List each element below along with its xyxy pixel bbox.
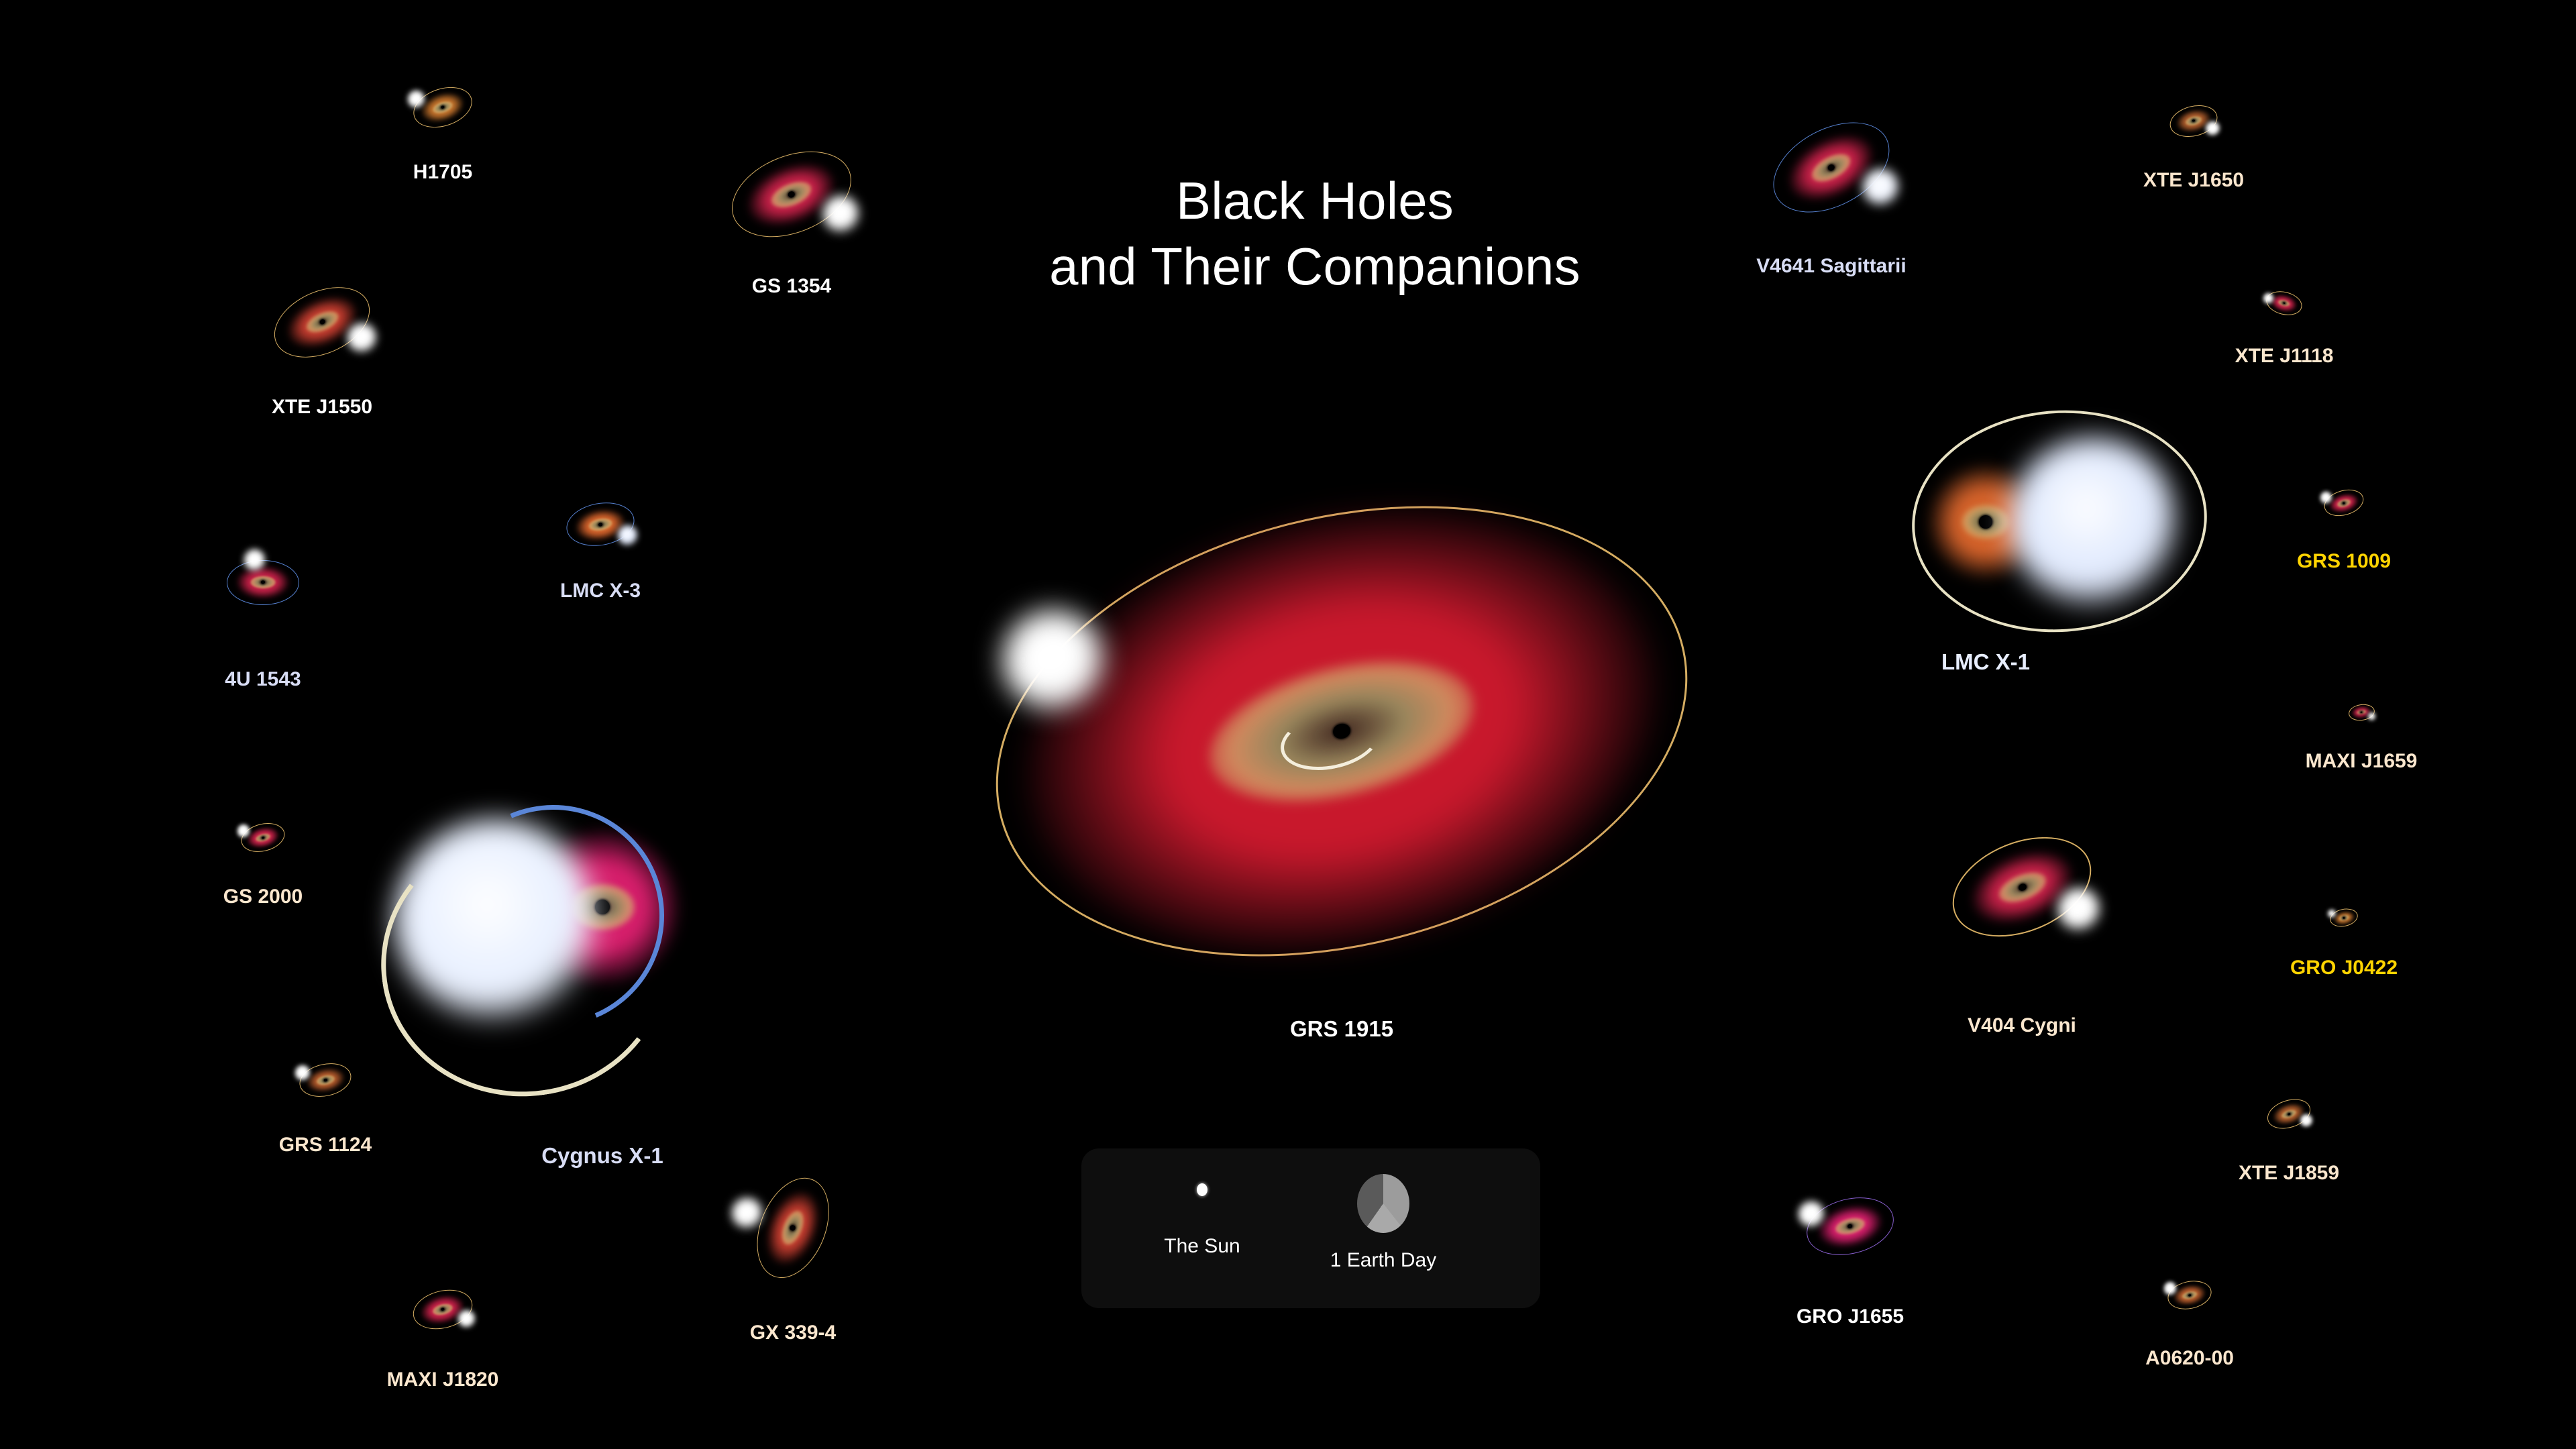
companion-star — [732, 1198, 762, 1229]
star-glow — [347, 323, 376, 353]
system-label: LMC X-3 — [413, 580, 788, 602]
system-label: XTE J1550 — [134, 396, 510, 419]
system-label: H1705 — [255, 161, 631, 184]
system-label: V4641 Sagittarii — [1644, 255, 2019, 278]
star-glow — [408, 91, 425, 108]
black-hole-shadow — [2188, 1293, 2191, 1296]
star-glow — [2058, 888, 2100, 930]
companion-star — [2058, 888, 2100, 930]
legend-item-one-earth-day: 1 Earth Day — [1303, 1174, 1464, 1272]
black-hole-shadow — [598, 523, 603, 527]
system-label: GRS 1124 — [138, 1134, 513, 1157]
star-glow — [1799, 1201, 1824, 1228]
page-title: Black Holes and Their Companions — [1033, 168, 1597, 300]
star-glow — [823, 196, 859, 232]
legend-panel: The Sun 1 Earth Day — [1081, 1148, 1540, 1308]
star-glow — [2320, 492, 2332, 504]
accretion-disk — [237, 566, 290, 598]
system-label: XTE J1118 — [2096, 345, 2472, 368]
companion-star — [823, 196, 859, 232]
star-glow — [2300, 1114, 2313, 1127]
system-label: GRS 1009 — [2156, 550, 2532, 573]
clock-pie-icon — [1357, 1174, 1409, 1233]
legend-item-the-sun: The Sun — [1122, 1183, 1283, 1258]
system-label: LMC X-1 — [1798, 649, 2173, 675]
system-label: GS 1354 — [604, 275, 979, 298]
legend-label-the-sun: The Sun — [1122, 1235, 1283, 1258]
companion-star — [2206, 121, 2220, 136]
star-glow — [2164, 1282, 2177, 1295]
companion-star — [408, 91, 425, 108]
system-label: GRO J1655 — [1662, 1305, 2038, 1328]
star-glow — [2263, 293, 2274, 304]
star-glow — [458, 1310, 476, 1328]
companion-star — [1863, 169, 1898, 205]
star-glow — [2328, 910, 2336, 918]
system-label: 4U 1543 — [75, 668, 451, 691]
star-glow — [237, 824, 250, 837]
black-hole-shadow — [2343, 916, 2345, 918]
sun-dot-icon — [1197, 1183, 1207, 1196]
star-glow — [1863, 169, 1898, 205]
system-label: XTE J1859 — [2101, 1162, 2477, 1185]
star-glow — [732, 1198, 762, 1229]
companion-star — [2320, 492, 2332, 504]
system-label: GRS 1915 — [1154, 1016, 1529, 1042]
companion-star — [2328, 910, 2336, 918]
companion-star — [237, 824, 250, 837]
star-glow — [1003, 610, 1104, 711]
star-glow — [2368, 712, 2375, 720]
system-label: V404 Cygni — [1834, 1014, 2210, 1037]
companion-star — [2263, 293, 2274, 304]
companion-star — [2164, 1282, 2177, 1295]
companion-star — [347, 323, 376, 353]
system-label: MAXI J1820 — [255, 1368, 631, 1391]
system-label: MAXI J1659 — [2173, 750, 2549, 773]
star-glow — [2206, 121, 2220, 136]
system-label: GS 2000 — [75, 885, 451, 908]
legend-label-one-earth-day: 1 Earth Day — [1303, 1249, 1464, 1272]
companion-star — [2368, 712, 2375, 720]
orbit-ellipse-cream — [1904, 400, 2214, 642]
system-label: GX 339-4 — [605, 1322, 981, 1344]
companion-star — [1003, 610, 1104, 711]
star-glow — [295, 1065, 310, 1081]
companion-star — [295, 1065, 310, 1081]
companion-star — [2300, 1114, 2313, 1127]
companion-star — [1799, 1201, 1824, 1228]
system-label: A0620-00 — [2002, 1347, 2377, 1370]
black-hole-shadow — [324, 1079, 327, 1082]
black-hole-shadow — [262, 836, 264, 839]
star-glow — [618, 525, 637, 545]
system-label: GRO J0422 — [2156, 957, 2532, 979]
system-label: XTE J1650 — [2006, 169, 2381, 192]
companion-star — [618, 525, 637, 545]
companion-star — [458, 1310, 476, 1328]
